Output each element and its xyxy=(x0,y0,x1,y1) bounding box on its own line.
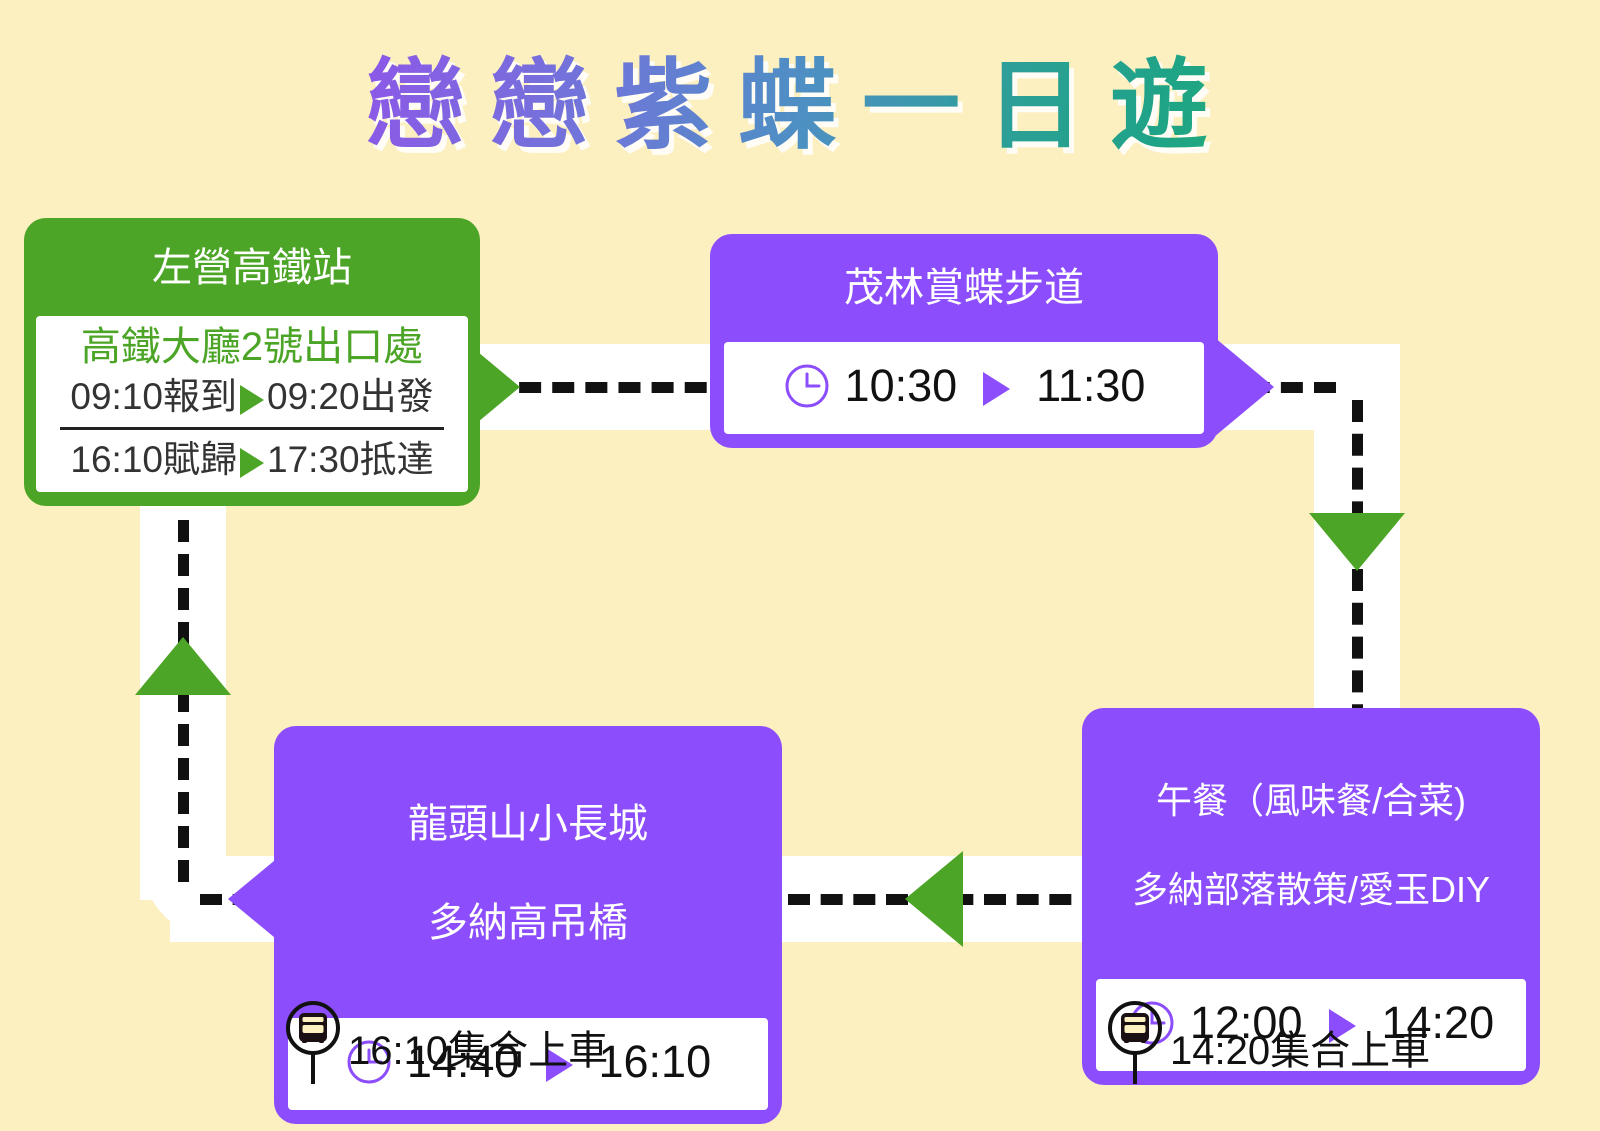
page-title: 戀戀紫蝶一日遊 xyxy=(0,46,1600,166)
card-butterfly-body: 10:30 11:30 xyxy=(724,342,1204,434)
arrow-left-green xyxy=(905,851,963,947)
arrow-right-icon xyxy=(240,385,264,415)
card-start-header: 左營高鐵站 xyxy=(24,218,480,316)
bus-stop-marker-lunch: 14:20集合上車 xyxy=(1104,1000,1430,1086)
clock-icon xyxy=(783,362,831,410)
arrow-right-icon xyxy=(983,372,1010,406)
card-bridge-header-line1: 龍頭山小長城 xyxy=(292,800,764,850)
arrow-up-green xyxy=(135,637,231,695)
card-start-place: 高鐵大廳2號出口處 xyxy=(46,322,458,373)
card-start-station[interactable]: 左營高鐵站 高鐵大廳2號出口處 09:10報到 09:20出發 16:10賦歸 … xyxy=(24,218,480,506)
dash-line-left xyxy=(178,520,189,882)
card-butterfly-header: 茂林賞蝶步道 xyxy=(710,234,1218,342)
bus-stop-icon xyxy=(282,1000,344,1086)
card-lunch-header: 午餐（風味餐/合菜) 多納部落散策/愛玉DIY xyxy=(1082,708,1540,979)
bus-stop-marker-bridge: 16:10集合上車 xyxy=(282,1000,608,1086)
card-bridge-header-line2: 多納高吊橋 xyxy=(292,899,764,949)
bus-stop-label: 16:10集合上車 xyxy=(348,1018,608,1076)
card-start-return-from: 16:10賦歸 xyxy=(70,436,237,484)
arrow-right-icon xyxy=(240,448,264,478)
card-butterfly-end-time: 11:30 xyxy=(1036,360,1145,412)
card-start-depart-to: 09:20出發 xyxy=(267,373,434,421)
bus-stop-icon xyxy=(1104,1000,1166,1086)
card-butterfly-trail[interactable]: 茂林賞蝶步道 10:30 11:30 xyxy=(710,234,1218,448)
card-butterfly-start-time: 10:30 xyxy=(845,360,958,412)
arrow-down-green xyxy=(1309,513,1405,571)
dash-line-right xyxy=(1352,400,1363,760)
card-lunch-header-line2: 多納部落散策/愛玉DIY xyxy=(1100,868,1522,913)
card-start-depart-from: 09:10報到 xyxy=(70,373,237,421)
arrow-right-purple-butterfly xyxy=(1214,337,1274,437)
card-start-return-to: 17:30抵達 xyxy=(267,436,434,484)
card-bridge-end-time: 16:10 xyxy=(599,1036,712,1088)
itinerary-infographic: 戀戀紫蝶一日遊 左營高鐵站 高鐵大廳2號出口處 09:10報到 09:20出發 … xyxy=(0,0,1600,1131)
divider xyxy=(60,427,444,430)
card-butterfly-time-row: 10:30 11:30 xyxy=(738,352,1190,422)
card-bridge-header: 龍頭山小長城 多納高吊橋 xyxy=(274,726,782,1018)
bus-stop-label: 14:20集合上車 xyxy=(1170,1018,1430,1076)
card-start-departure-row: 09:10報到 09:20出發 xyxy=(46,373,458,421)
card-start-body: 高鐵大廳2號出口處 09:10報到 09:20出發 16:10賦歸 17:30抵… xyxy=(36,316,468,492)
card-start-return-row: 16:10賦歸 17:30抵達 xyxy=(46,436,458,484)
card-lunch-header-line1: 午餐（風味餐/合菜) xyxy=(1100,779,1522,824)
